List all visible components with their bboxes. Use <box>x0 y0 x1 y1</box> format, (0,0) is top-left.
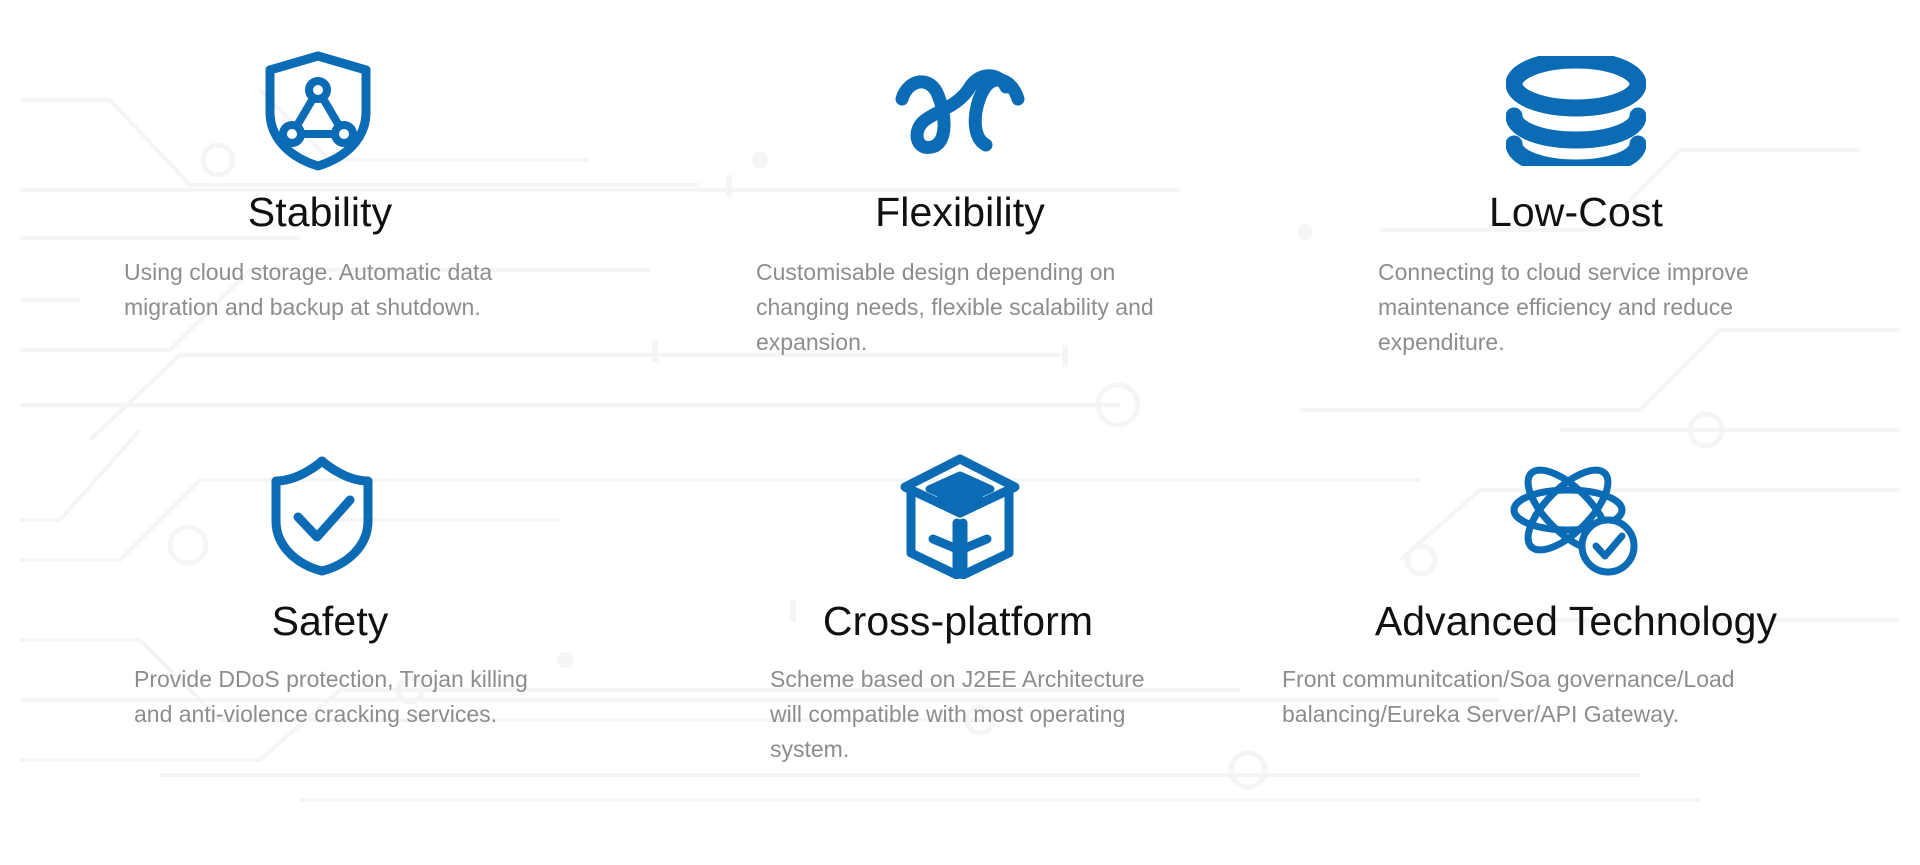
feature-description: Provide DDoS protection, Trojan killing … <box>134 662 534 732</box>
feature-title: Low-Cost <box>1489 192 1663 233</box>
feature-grid: Stability Using cloud storage. Automatic… <box>0 0 1920 865</box>
feature-title: Advanced Technology <box>1375 601 1777 642</box>
shield-check-icon <box>268 441 376 591</box>
feature-title: Flexibility <box>875 192 1045 233</box>
feature-card-flexibility[interactable]: Flexibility Customisable design dependin… <box>640 36 1280 441</box>
feature-card-safety[interactable]: Safety Provide DDoS protection, Trojan k… <box>0 441 640 846</box>
shield-network-icon <box>262 36 374 186</box>
isometric-cube-icon <box>897 441 1023 591</box>
feature-description: Scheme based on J2EE Architecture will c… <box>770 662 1170 767</box>
feature-description: Connecting to cloud service improve main… <box>1378 255 1778 360</box>
interlocking-loops-icon <box>890 36 1030 186</box>
feature-card-advanced-technology[interactable]: Advanced Technology Front communitcation… <box>1280 441 1920 846</box>
feature-card-cross-platform[interactable]: Cross-platform Scheme based on J2EE Arch… <box>640 441 1280 846</box>
feature-description: Using cloud storage. Automatic data migr… <box>124 255 524 325</box>
atom-check-icon <box>1510 441 1642 591</box>
feature-title: Safety <box>272 601 389 642</box>
feature-title: Stability <box>248 192 392 233</box>
feature-card-stability[interactable]: Stability Using cloud storage. Automatic… <box>0 36 640 441</box>
feature-description: Customisable design depending on changin… <box>756 255 1156 360</box>
feature-card-low-cost[interactable]: Low-Cost Connecting to cloud service imp… <box>1280 36 1920 441</box>
feature-title: Cross-platform <box>823 601 1093 642</box>
feature-description: Front communitcation/Soa governance/Load… <box>1282 662 1842 732</box>
database-stack-icon <box>1506 36 1646 186</box>
